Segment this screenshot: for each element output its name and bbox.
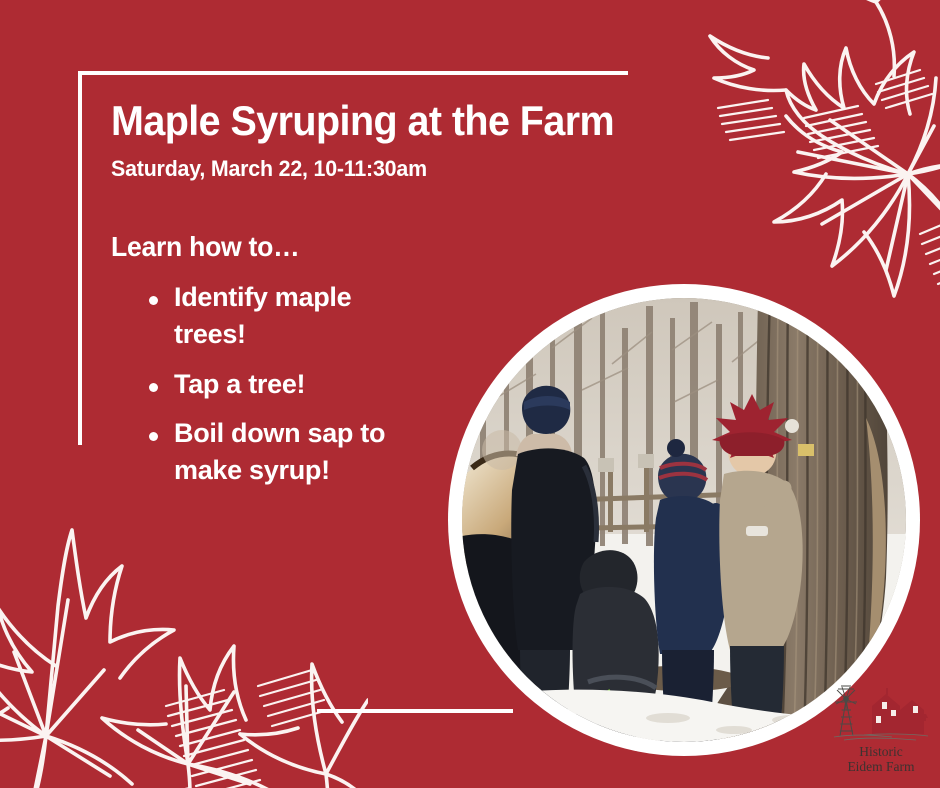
logo-wordmark: Historic Eidem Farm	[830, 745, 932, 774]
frame-rule-bottom	[317, 709, 513, 713]
list-item: Tap a tree!	[111, 366, 411, 403]
poster-title: Maple Syruping at the Farm	[111, 100, 637, 142]
list-item-label: Boil down sap to make syrup!	[174, 418, 385, 485]
windmill-and-farmhouse-icon	[830, 684, 932, 744]
event-photo	[462, 298, 906, 742]
bullet-dot-icon	[149, 296, 158, 305]
poster-canvas: Maple Syruping at the Farm Saturday, Mar…	[0, 0, 940, 788]
list-item: Boil down sap to make syrup!	[111, 415, 411, 490]
list-item-label: Identify maple trees!	[174, 282, 351, 349]
event-photo-illustration	[462, 298, 906, 742]
list-item-label: Tap a tree!	[174, 369, 305, 399]
maple-leaf-line-art-bottom-left	[0, 474, 368, 788]
list-item: Identify maple trees!	[111, 279, 411, 354]
poster-subtitle: Saturday, March 22, 10-11:30am	[111, 156, 643, 182]
bullet-dot-icon	[149, 432, 158, 441]
frame-rule-left	[78, 71, 82, 445]
learn-how-to-label: Learn how to…	[111, 231, 643, 263]
historic-eidem-farm-logo: Historic Eidem Farm	[830, 684, 932, 774]
frame-rule-top	[78, 71, 628, 75]
logo-line-2: Eidem Farm	[830, 760, 932, 774]
logo-line-1: Historic	[830, 745, 932, 759]
bullet-dot-icon	[149, 383, 158, 392]
